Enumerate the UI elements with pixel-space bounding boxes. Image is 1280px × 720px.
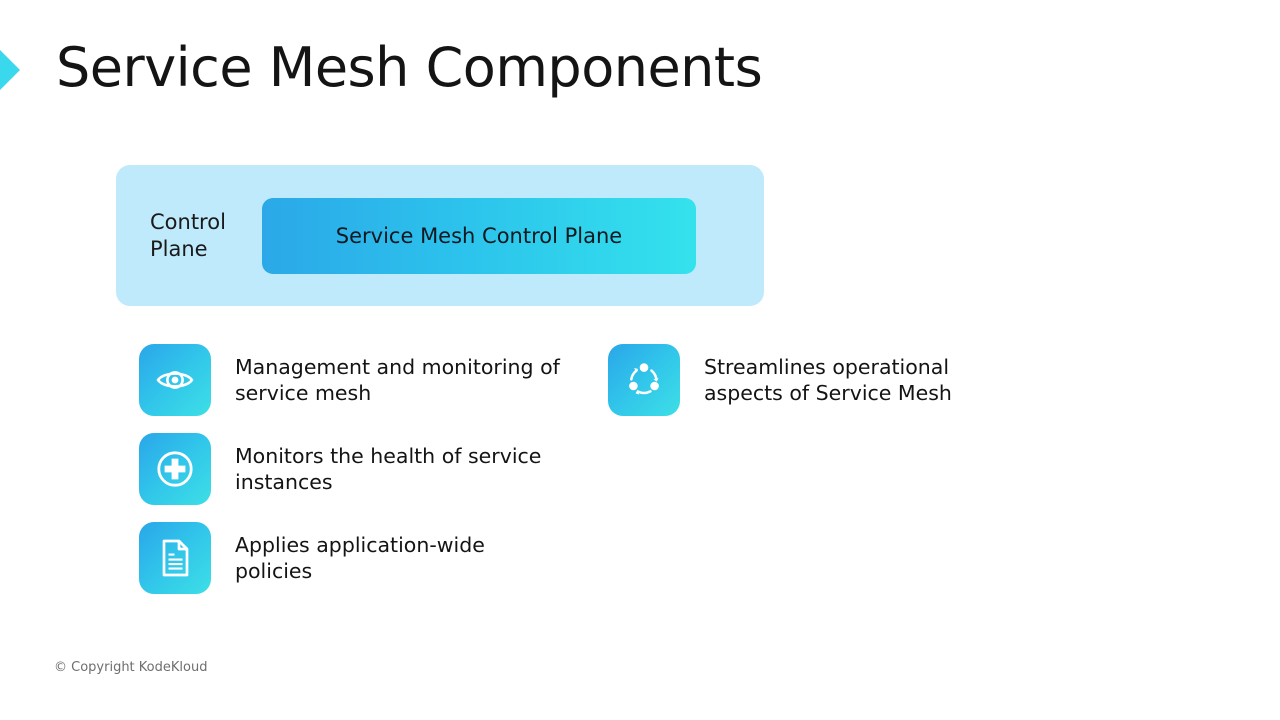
control-plane-panel: Control Plane Service Mesh Control Plane [116, 165, 764, 306]
feature-text: Management and monitoring of service mes… [235, 354, 565, 406]
page-title: Service Mesh Components [56, 38, 762, 97]
feature-item: Monitors the health of service instances [139, 433, 565, 505]
circular-sync-icon [622, 358, 666, 402]
footer-copyright: © Copyright KodeKloud [54, 660, 207, 675]
feature-item: Applies application-wide policies [139, 522, 565, 594]
control-plane-label-line2: Plane [150, 236, 262, 262]
health-cross-circle-icon-tile [139, 433, 211, 505]
feature-item: Streamlines operational aspects of Servi… [608, 344, 1004, 416]
feature-text: Streamlines operational aspects of Servi… [704, 354, 1004, 406]
feature-item: Management and monitoring of service mes… [139, 344, 565, 416]
document-icon [155, 536, 195, 580]
control-plane-label-line1: Control [150, 209, 262, 235]
features-right-column: Streamlines operational aspects of Servi… [608, 344, 1004, 433]
features-left-column: Management and monitoring of service mes… [139, 344, 565, 611]
chevron-right-icon [0, 28, 40, 112]
health-cross-circle-icon [153, 447, 197, 491]
circular-sync-icon-tile [608, 344, 680, 416]
eye-icon-tile [139, 344, 211, 416]
document-icon-tile [139, 522, 211, 594]
control-plane-label: Control Plane [116, 209, 262, 262]
feature-text: Monitors the health of service instances [235, 443, 565, 495]
eye-icon [154, 359, 196, 401]
feature-text: Applies application-wide policies [235, 532, 565, 584]
service-mesh-control-plane-pill: Service Mesh Control Plane [262, 198, 696, 274]
